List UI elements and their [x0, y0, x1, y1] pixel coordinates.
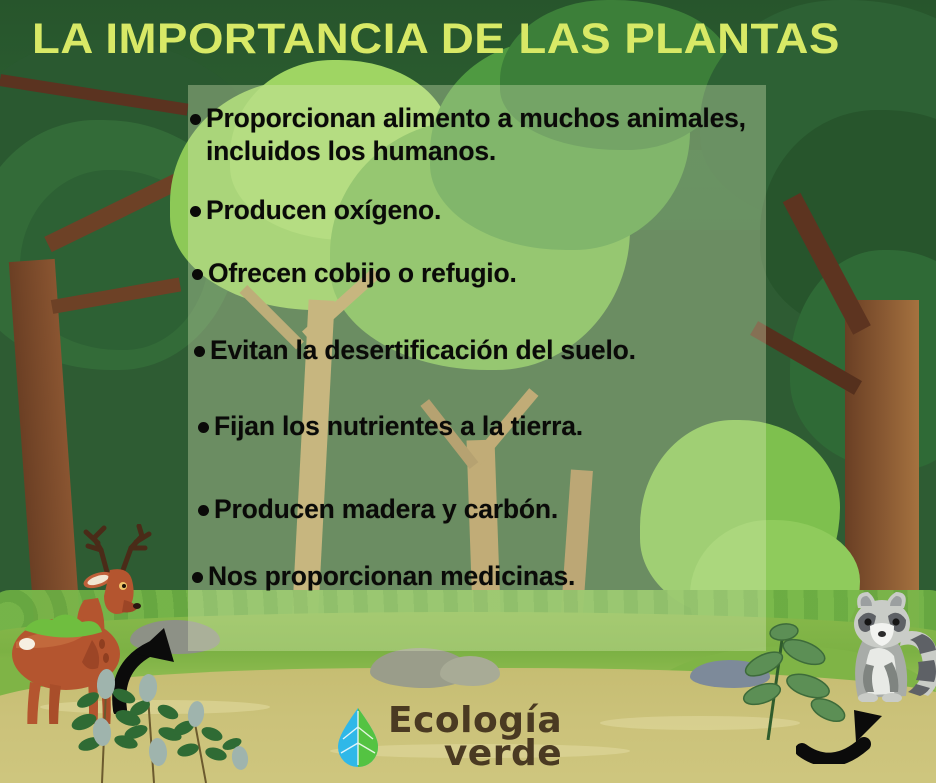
- bullet-dot-icon: [198, 422, 209, 433]
- list-item: Evitan la desertificación del suelo.: [190, 334, 790, 367]
- list-item-label: Fijan los nutrientes a la tierra.: [214, 410, 790, 443]
- plant-sprig-left: [44, 666, 254, 783]
- list-item-label: Proporcionan alimento a muchos animales,…: [206, 102, 790, 168]
- list-item: Ofrecen cobijo o refugio.: [190, 257, 790, 290]
- list-item-label: Ofrecen cobijo o refugio.: [208, 257, 790, 290]
- bullet-dot-icon: [190, 206, 201, 217]
- infographic-poster: LA IMPORTANCIA DE LAS PLANTAS Proporcion…: [0, 0, 936, 783]
- bullet-dot-icon: [190, 114, 201, 125]
- benefits-list: Proporcionan alimento a muchos animales,…: [190, 98, 790, 593]
- brand-line-2: verde: [388, 737, 562, 770]
- list-item: Producen oxígeno.: [190, 194, 790, 227]
- list-item-label: Producen oxígeno.: [206, 194, 790, 227]
- list-item-label: Nos proporcionan medicinas.: [208, 560, 790, 593]
- bullet-dot-icon: [198, 505, 209, 516]
- bullet-dot-icon: [192, 572, 203, 583]
- rock-center-small: [440, 656, 500, 686]
- list-item: Producen madera y carbón.: [190, 493, 790, 526]
- page-title: LA IMPORTANCIA DE LAS PLANTAS: [32, 14, 936, 64]
- plant-sprig-right: [742, 610, 862, 740]
- leaf-droplet-icon: [336, 707, 380, 767]
- bullet-dot-icon: [194, 346, 205, 357]
- list-item-label: Producen madera y carbón.: [214, 493, 790, 526]
- brand-wordmark: Ecología verde: [388, 704, 562, 770]
- list-item: Nos proporcionan medicinas.: [190, 560, 790, 593]
- list-item-label: Evitan la desertificación del suelo.: [210, 334, 790, 367]
- list-item: Fijan los nutrientes a la tierra.: [190, 410, 790, 443]
- brand-logo[interactable]: Ecología verde: [336, 704, 562, 770]
- list-item: Proporcionan alimento a muchos animales,…: [190, 102, 790, 168]
- bullet-dot-icon: [192, 269, 203, 280]
